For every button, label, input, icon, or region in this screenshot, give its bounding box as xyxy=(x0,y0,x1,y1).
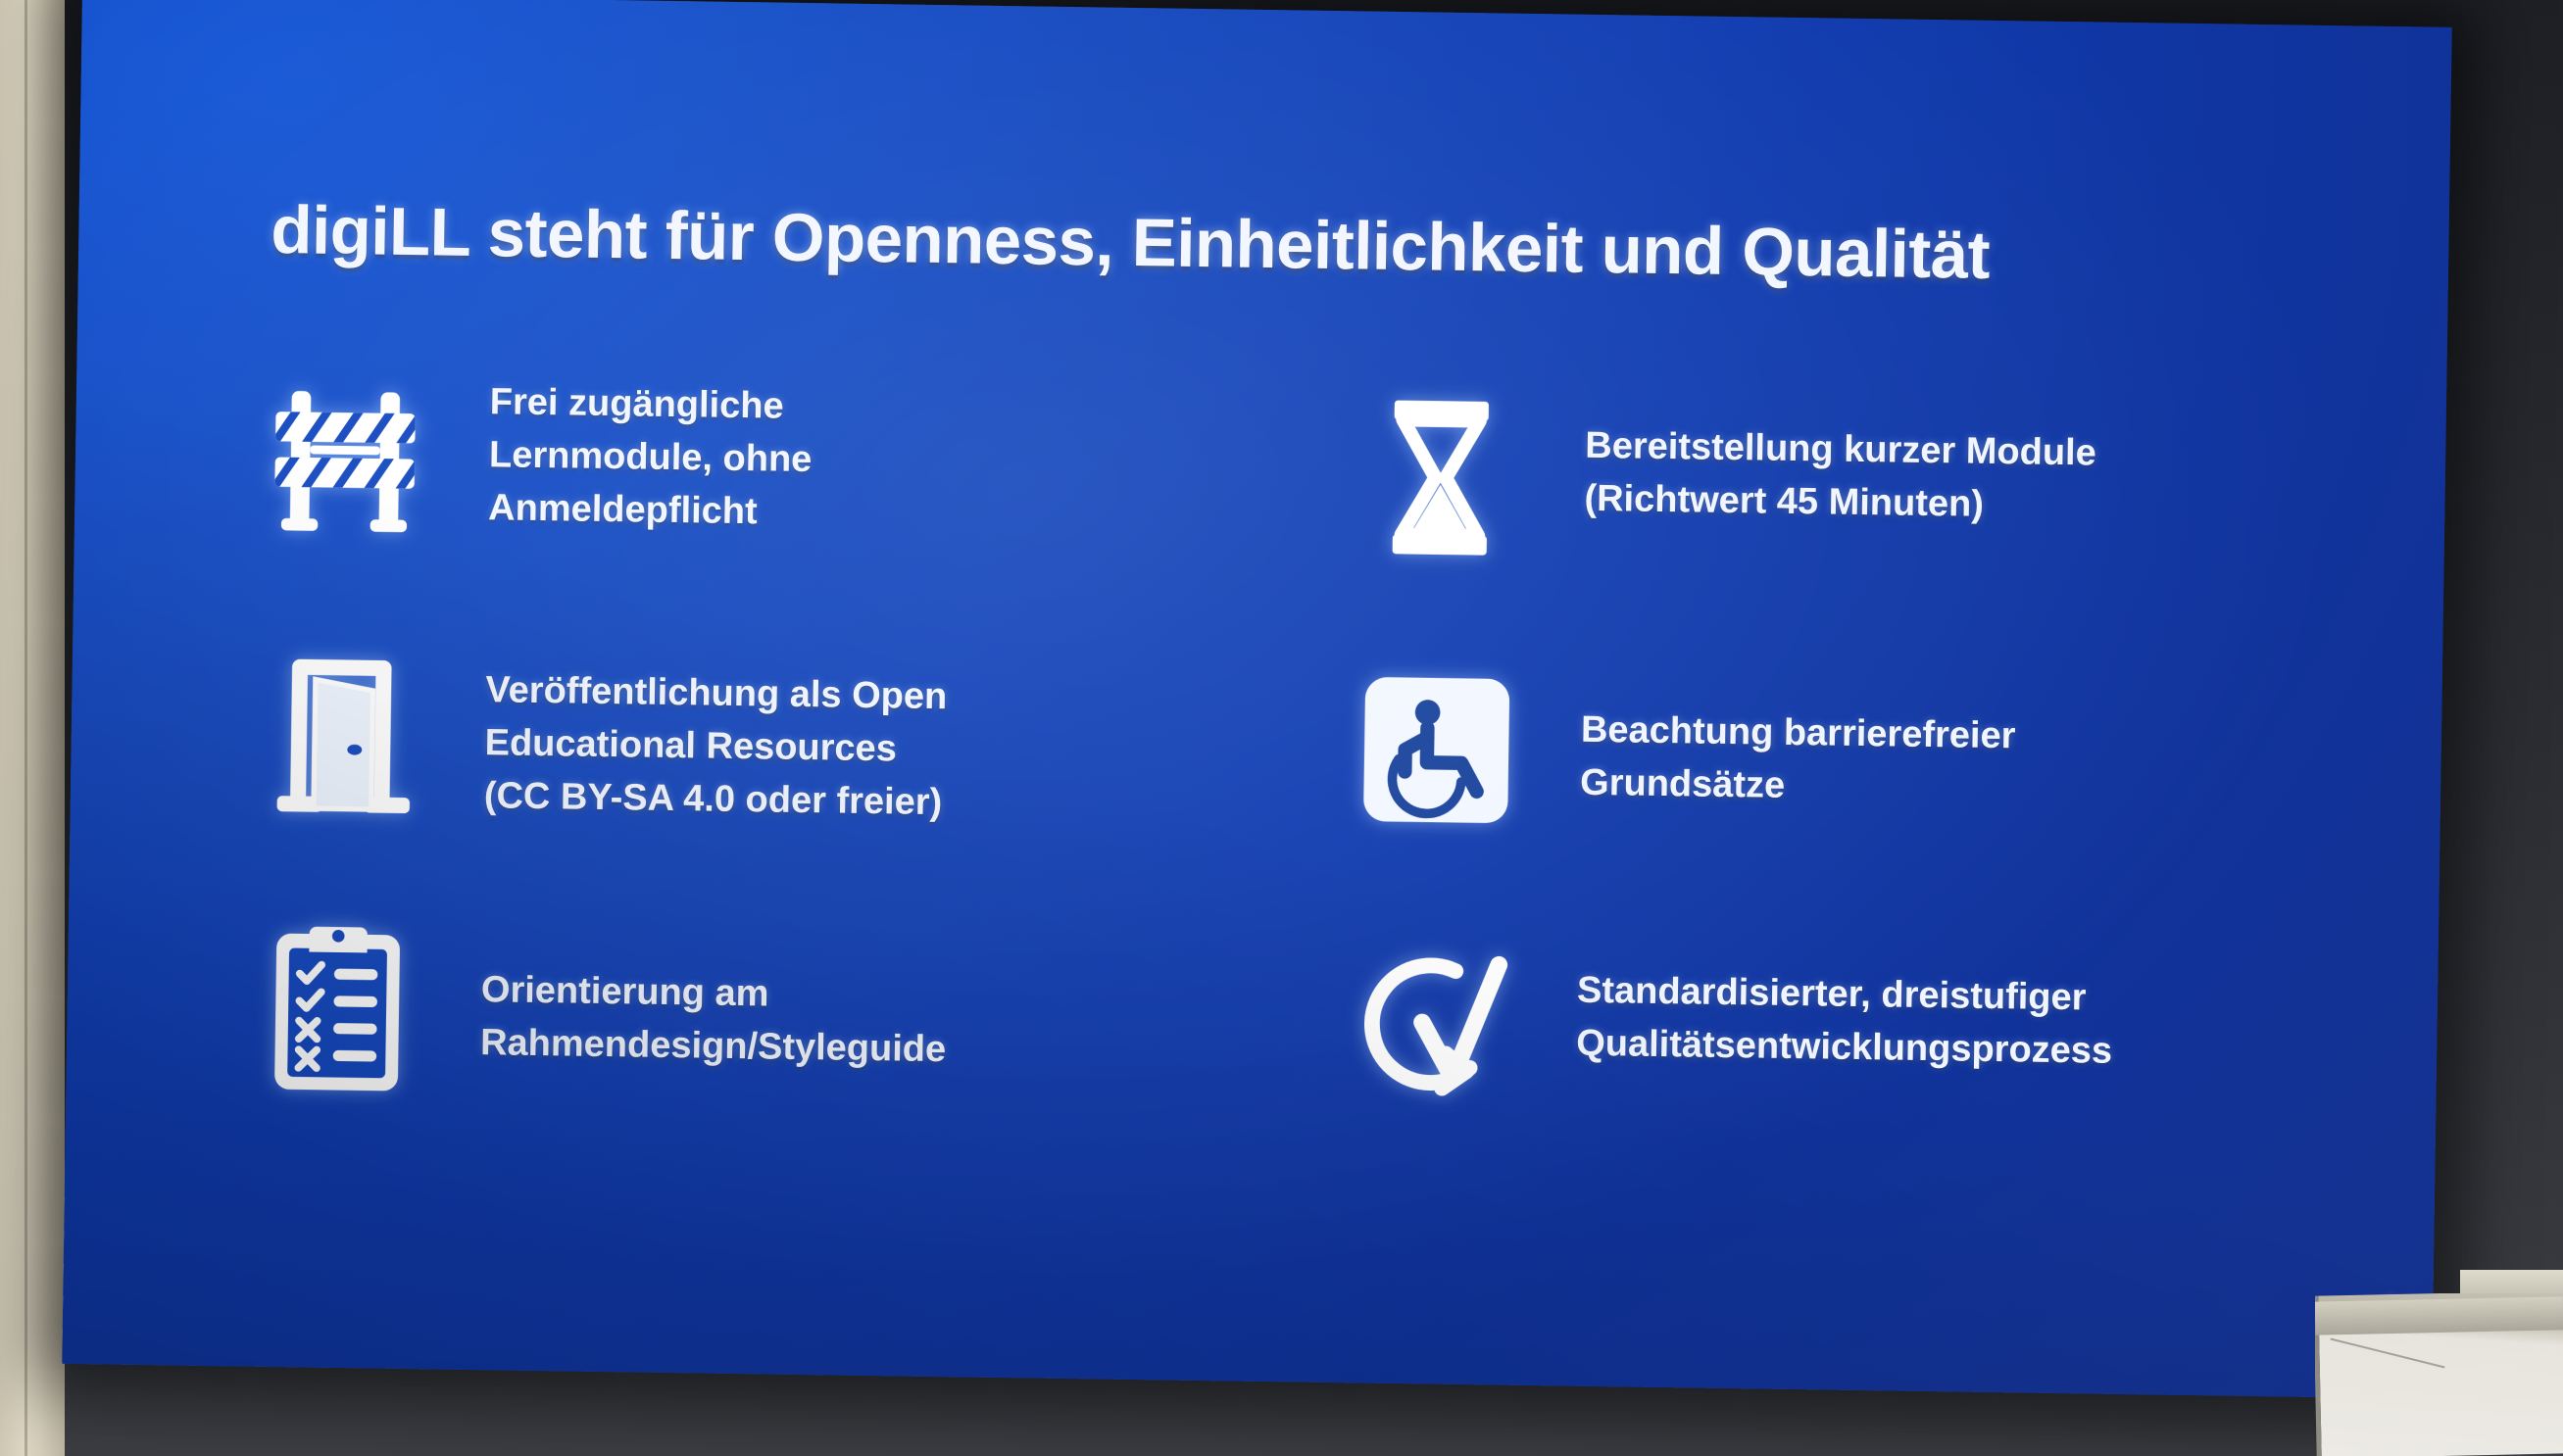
feature-line: Orientierung am xyxy=(481,964,948,1024)
feature-item-accessibility: Beachtung barrierefreier Grundsätze xyxy=(1323,655,2327,943)
feature-line: Standardisierter, dreistufiger xyxy=(1577,965,2114,1026)
feature-line: Anmeldepflicht xyxy=(488,482,812,540)
feature-item-open-access: Frei zugängliche Lernmodule, ohne Anmeld… xyxy=(249,367,1253,655)
feature-line: Rahmendesign/Styleguide xyxy=(480,1017,947,1077)
feature-line: Beachtung barrierefreier xyxy=(1581,704,2016,764)
feature-line: Educational Resources xyxy=(484,717,947,777)
barrier-icon xyxy=(251,367,440,557)
presentation-photo-scene: digiLL steht für Openness, Einheitlichke… xyxy=(0,0,2563,1456)
feature-line: Lernmodule, ohne xyxy=(489,429,813,487)
feature-line: Veröffentlichung als Open xyxy=(485,664,948,724)
feature-item-quality-process: Standardisierter, dreistufiger Qualitäts… xyxy=(1319,928,2323,1215)
feature-text: Bereitstellung kurzer Module (Richtwert … xyxy=(1584,387,2097,534)
flipchart-clamp xyxy=(2315,1296,2563,1335)
feature-line: (CC BY-SA 4.0 oder freier) xyxy=(483,770,946,830)
wheelchair-accessibility-icon xyxy=(1342,655,1531,845)
clipboard-checklist-icon xyxy=(242,912,431,1101)
feature-line: (Richtwert 45 Minuten) xyxy=(1584,473,2095,534)
check-cycle-icon xyxy=(1338,928,1527,1117)
wall-seam-line xyxy=(25,0,27,1456)
left-wall-strip xyxy=(0,0,65,1456)
feature-line: Frei zugängliche xyxy=(489,376,813,434)
feature-text: Veröffentlichung als Open Educational Re… xyxy=(483,643,948,830)
feature-item-oer-license: Veröffentlichung als Open Educational Re… xyxy=(245,640,1249,927)
feature-grid: Frei zugängliche Lernmodule, ohne Anmeld… xyxy=(241,367,2331,1215)
feature-text: Standardisierter, dreistufiger Qualitäts… xyxy=(1576,932,2114,1079)
feature-item-short-modules: Bereitstellung kurzer Module (Richtwert … xyxy=(1327,383,2331,670)
open-door-icon xyxy=(246,640,435,829)
hourglass-icon xyxy=(1346,383,1535,572)
feature-text: Orientierung am Rahmendesign/Styleguide xyxy=(480,915,948,1077)
feature-line: Qualitätsentwicklungsprozess xyxy=(1576,1018,2113,1079)
feature-item-styleguide: Orientierung am Rahmendesign/Styleguide xyxy=(241,912,1245,1199)
projection-screen: digiLL steht für Openness, Einheitlichke… xyxy=(62,0,2452,1399)
page-title: digiLL steht für Openness, Einheitlichke… xyxy=(271,191,1991,294)
slide-canvas: digiLL steht für Openness, Einheitlichke… xyxy=(62,0,2452,1399)
feature-line: Bereitstellung kurzer Module xyxy=(1585,420,2096,481)
feature-text: Frei zugängliche Lernmodule, ohne Anmeld… xyxy=(488,370,813,540)
flipchart-board xyxy=(2315,1293,2563,1456)
feature-text: Beachtung barrierefreier Grundsätze xyxy=(1580,659,2017,816)
feature-line: Grundsätze xyxy=(1580,757,2015,817)
